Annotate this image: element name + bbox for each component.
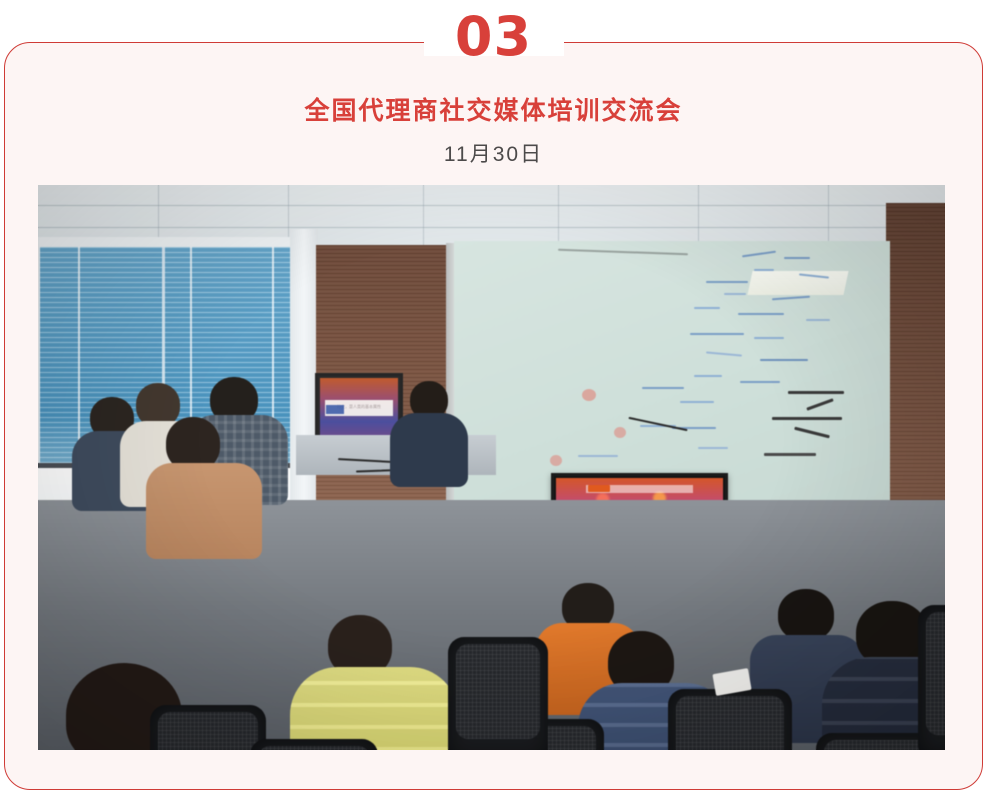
section-number: 03 [0,10,987,64]
office-chair [250,739,378,750]
event-photo: 社交，是人类的基本属性 社交，是人类的基本属性 [38,185,945,750]
tv-slide-tag [588,485,610,492]
office-chair [668,689,792,750]
office-chair [150,705,266,750]
monitor-slide-logo [326,405,344,414]
section-date: 11月30日 [0,142,987,167]
slide-page: 03 全国代理商社交媒体培训交流会 11月30日 [0,0,987,799]
monitor-screen: 社交，是人类的基本属性 [320,378,398,436]
heading-block: 全国代理商社交媒体培训交流会 11月30日 [0,96,987,167]
office-chair [448,637,548,750]
section-title: 全国代理商社交媒体培训交流会 [0,96,987,126]
desktop-monitor: 社交，是人类的基本属性 [315,373,403,441]
office-chair [918,605,945,750]
